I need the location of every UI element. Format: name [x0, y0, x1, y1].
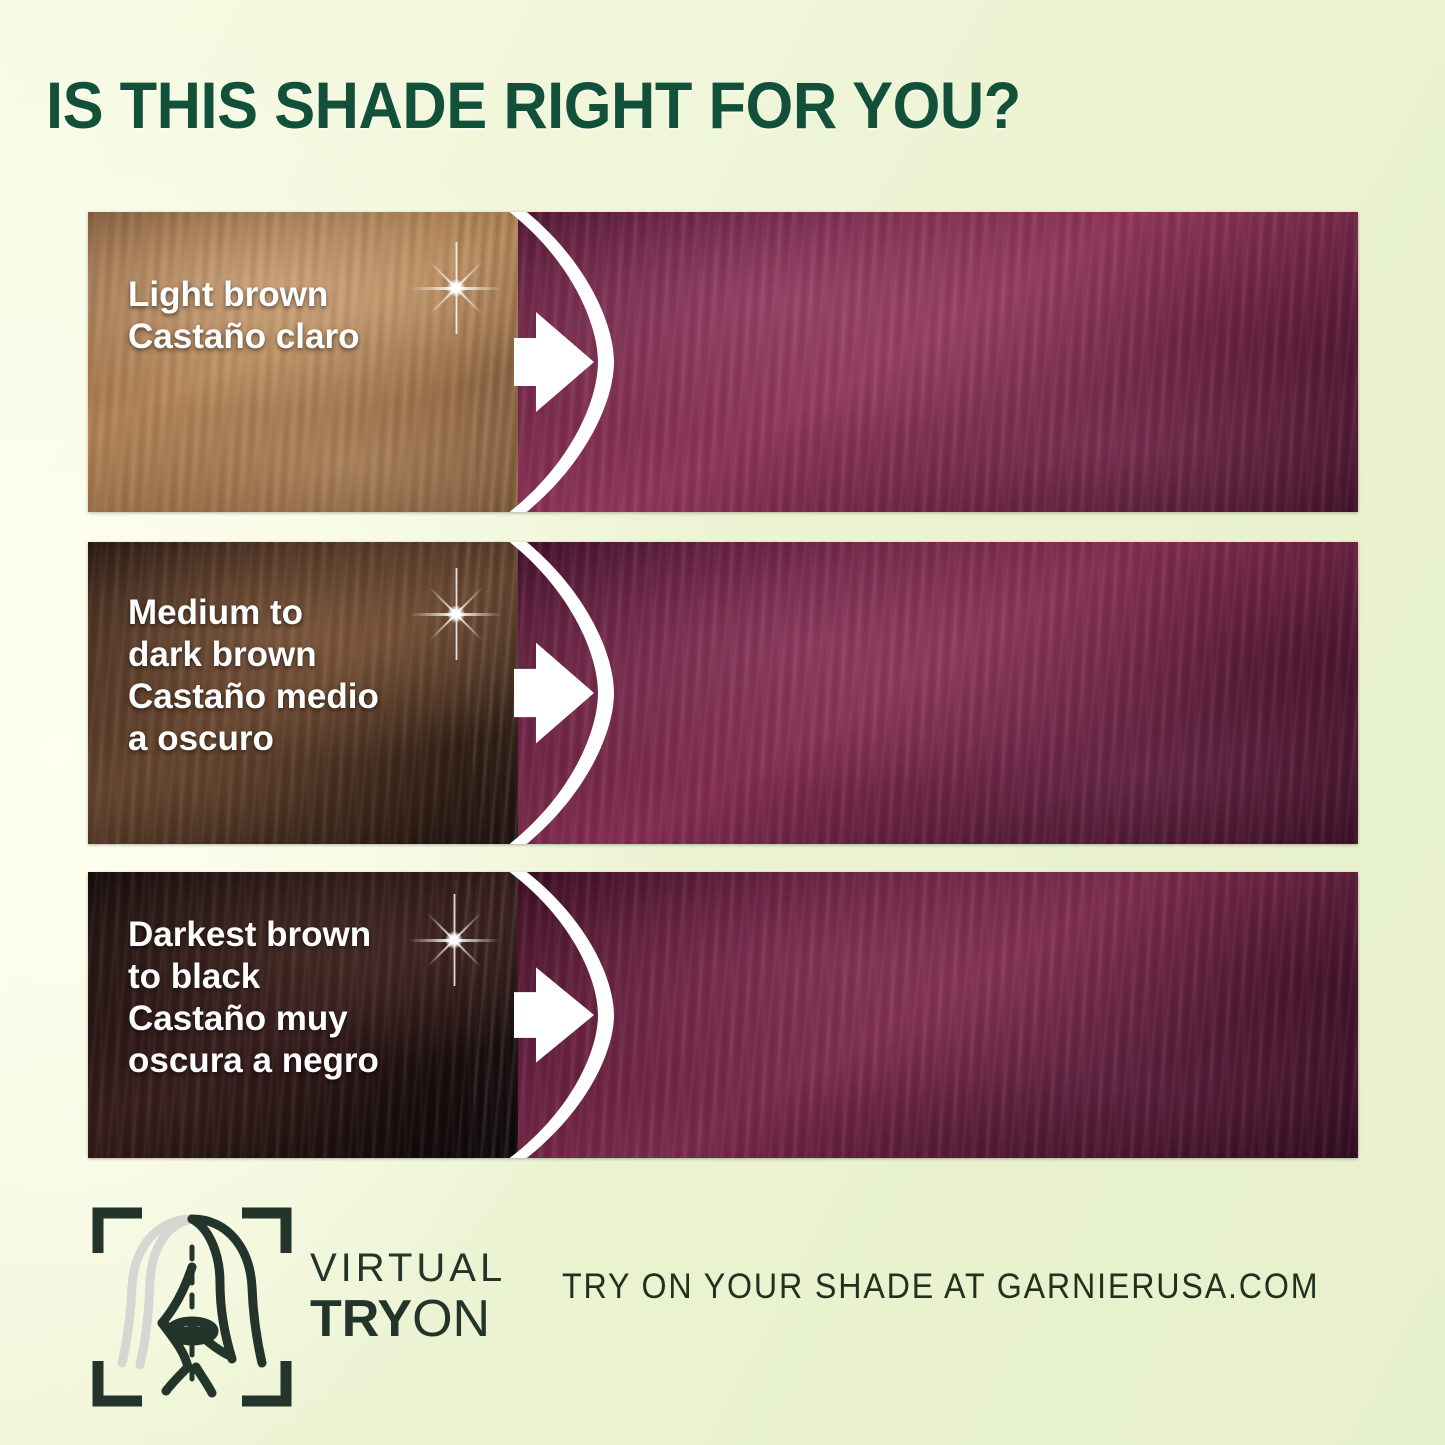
before-hair-swatch: [88, 212, 518, 512]
after-hair-swatch: [518, 212, 1358, 512]
after-hair-swatch: [518, 542, 1358, 844]
cta-text[interactable]: TRY ON YOUR SHADE AT GARNIERUSA.COM: [562, 1267, 1319, 1307]
shade-label: Light brown Castaño claro: [128, 274, 359, 358]
on-word: ON: [412, 1290, 490, 1348]
hair-strand-texture: [456, 542, 1358, 844]
virtual-try-on-icon[interactable]: [92, 1207, 292, 1407]
virtual-label: VIRTUAL: [310, 1245, 506, 1291]
shade-panel: Light brown Castaño claro: [88, 212, 1358, 512]
page-title: IS THIS SHADE RIGHT FOR YOU?: [46, 69, 1311, 141]
after-hair-swatch: [518, 872, 1358, 1158]
product-shade-guide: IS THIS SHADE RIGHT FOR YOU? Light brown…: [0, 0, 1445, 1445]
shade-panel: Darkest brown to black Castaño muy oscur…: [88, 872, 1358, 1158]
footer: VIRTUAL TRYON TRY ON YOUR SHADE AT GARNI…: [0, 1185, 1445, 1405]
try-on-label: TRYON: [310, 1291, 506, 1347]
shade-label: Medium to dark brown Castaño medio a osc…: [128, 592, 379, 760]
try-word: TRY: [310, 1290, 412, 1348]
shade-panel: Medium to dark brown Castaño medio a osc…: [88, 542, 1358, 844]
hair-strand-texture: [456, 872, 1358, 1158]
shade-label: Darkest brown to black Castaño muy oscur…: [128, 914, 379, 1082]
hair-strand-texture: [456, 212, 1358, 512]
virtual-try-on-wordmark: VIRTUAL TRYON: [310, 1245, 506, 1347]
